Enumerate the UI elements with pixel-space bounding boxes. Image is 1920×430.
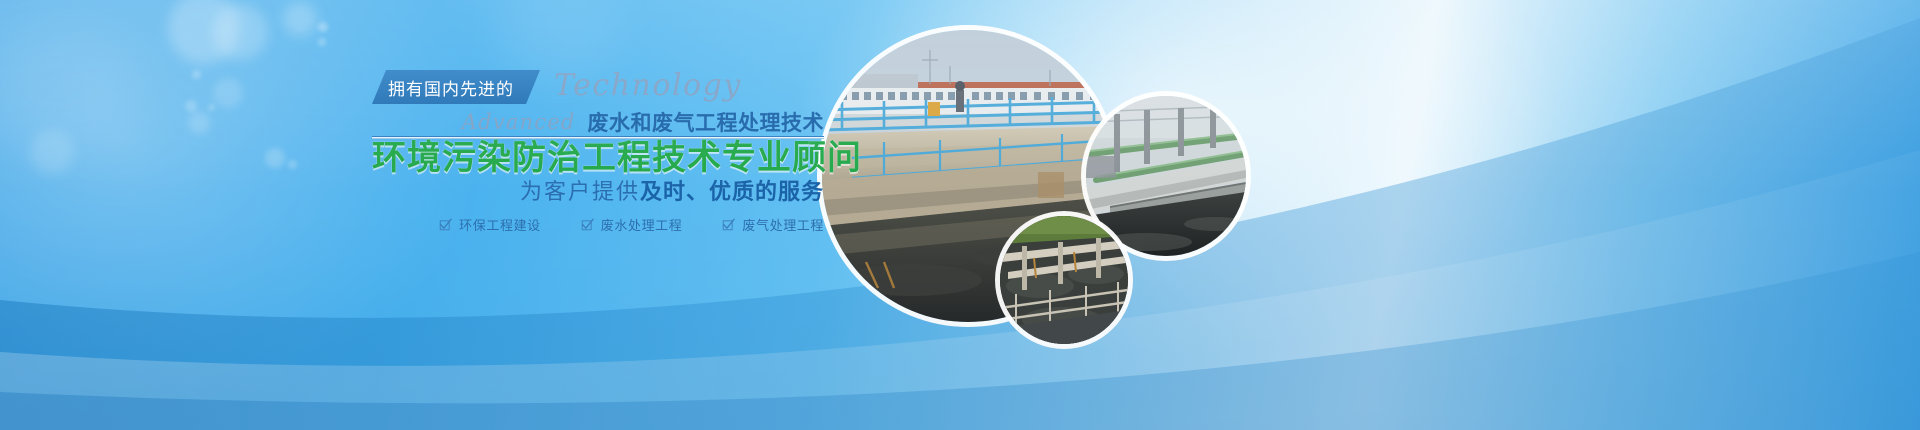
overlay-sheen xyxy=(0,0,1920,430)
promo-banner: 拥有国内先进的 Technology Advanced 废水和废气工程处理技术 … xyxy=(0,0,1920,430)
